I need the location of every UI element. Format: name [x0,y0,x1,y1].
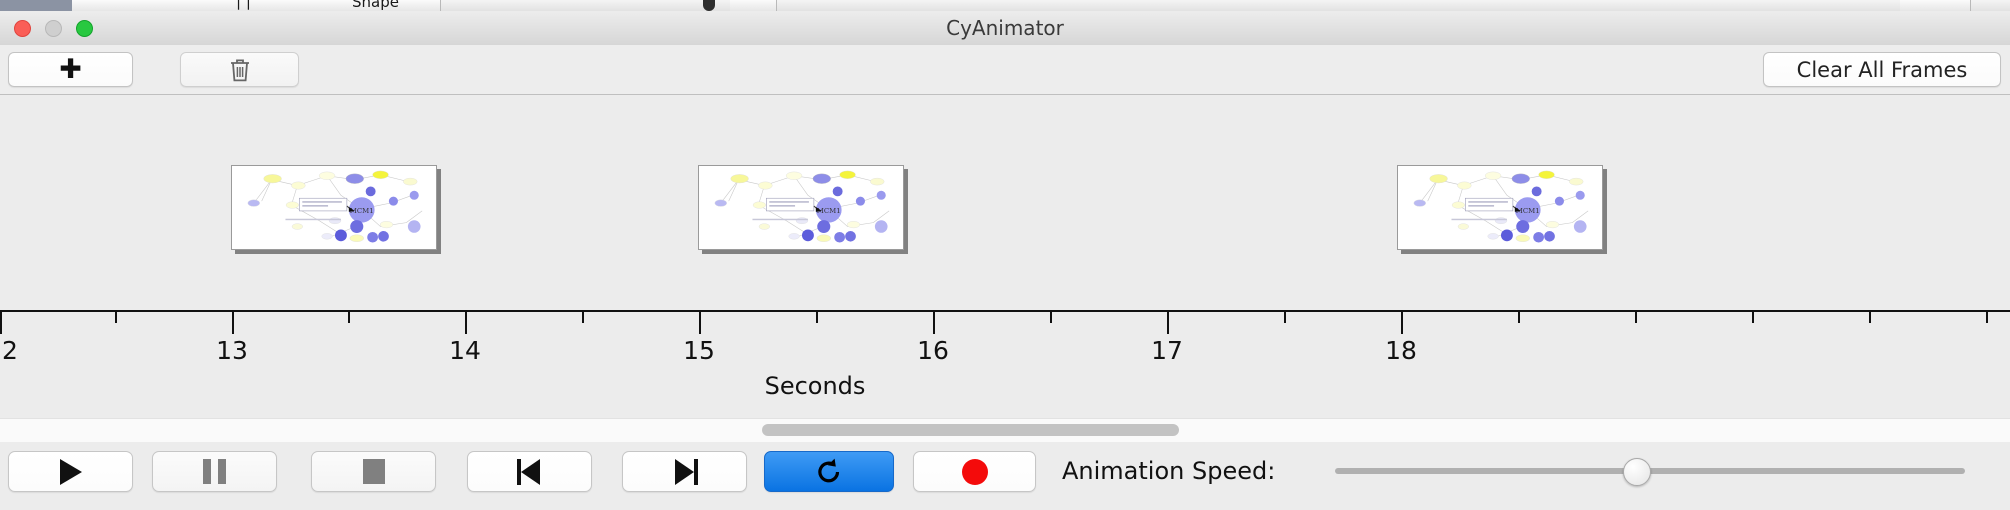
axis-tick-minor [1869,312,1871,323]
axis-tick-major [699,312,701,334]
record-button[interactable] [913,451,1036,492]
trash-icon [229,57,251,83]
axis-label: 17 [1151,336,1183,365]
window-title: CyAnimator [0,11,2010,45]
background-window-label: Shape [352,0,399,8]
background-glyph: | | [236,0,251,7]
timeline-panel[interactable]: MCM1 [0,95,2010,418]
axis-tick-major [1167,312,1169,334]
background-segment [192,0,241,11]
frame-thumbnail-1[interactable]: MCM1 [231,165,437,250]
frame-thumbnail-3[interactable]: MCM1 [1397,165,1603,250]
axis-tick-major [465,312,467,334]
axis-tick-major [933,312,935,334]
loop-icon [814,457,844,487]
network-graph-preview: MCM1 [699,166,903,249]
axis-tick-minor [582,312,584,323]
pause-icon [203,459,226,484]
skip-forward-icon [672,459,698,485]
axis-tick-minor [348,312,350,323]
stop-button[interactable] [311,451,436,492]
background-segment [1930,0,1971,11]
title-bar: CyAnimator [0,11,2010,46]
play-button[interactable] [8,451,133,492]
toolbar: ✚ Clear All Frames [0,45,2010,95]
axis-tick-minor [1518,312,1520,323]
first-frame-button[interactable] [467,451,592,492]
timeline-axis [0,310,2010,312]
background-segment [730,0,777,11]
axis-label: 13 [216,336,248,365]
background-window-dark-segment [0,0,72,11]
skip-back-icon [517,459,543,485]
axis-tick-minor [1986,312,1988,323]
axis-label: 18 [1385,336,1417,365]
axis-tick-minor [1284,312,1286,323]
add-frame-button[interactable]: ✚ [8,52,133,87]
axis-tick-minor [1752,312,1754,323]
network-graph-preview: MCM1 [232,166,436,249]
slider-knob[interactable] [1623,458,1651,486]
cyanimator-window: | | Shape CyAnimator ✚ Clear All Frames [0,0,2010,510]
clear-all-frames-button[interactable]: Clear All Frames [1763,52,2001,87]
plus-icon: ✚ [59,56,82,83]
axis-tick-minor [816,312,818,323]
stop-icon [363,459,385,484]
axis-label: 15 [683,336,715,365]
axis-label: 12 [0,336,18,365]
last-frame-button[interactable] [622,451,747,492]
axis-label: 16 [917,336,949,365]
network-graph-preview: MCM1 [1398,166,1602,249]
axis-tick-minor [115,312,117,323]
transport-bar: Animation Speed: [0,442,2010,510]
axis-label: 14 [449,336,481,365]
background-segment [240,0,313,11]
loop-button[interactable] [764,451,894,492]
axis-tick-major [0,312,2,334]
animation-speed-label: Animation Speed: [1062,451,1275,492]
play-icon [60,459,82,485]
record-icon [962,459,988,485]
axis-tick-major [1401,312,1403,334]
pause-button[interactable] [152,451,277,492]
background-notch [703,0,715,11]
delete-frame-button[interactable] [180,52,299,87]
axis-tick-minor [1635,312,1637,323]
frame-thumbnail-2[interactable]: MCM1 [698,165,904,250]
animation-speed-slider[interactable] [1335,468,1965,475]
background-segment [152,0,193,11]
timeline-horizontal-scrollbar[interactable] [0,418,2010,443]
axis-tick-major [232,312,234,334]
background-window-strip: | | Shape [0,0,2010,11]
background-segment [72,0,153,11]
axis-title: Seconds [0,372,1820,400]
axis-tick-minor [1050,312,1052,323]
background-segment [1900,0,1931,11]
scrollbar-thumb[interactable] [762,424,1179,436]
